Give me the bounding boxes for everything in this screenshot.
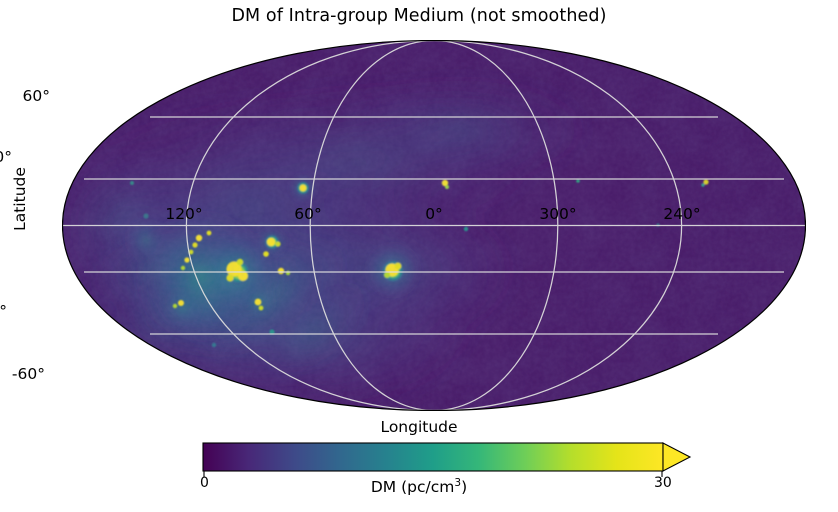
figure-title: DM of Intra-group Medium (not smoothed) [0, 6, 838, 26]
lon-tick-60: 60° [248, 205, 368, 223]
colorbar: 0 30 [203, 443, 663, 471]
colorbar-label-text: DM (pc/cm [371, 478, 455, 496]
figure-canvas: DM of Intra-group Medium (not smoothed) [0, 0, 838, 512]
colorbar-label: DM (pc/cm3) [0, 478, 838, 496]
colorbar-label-close: ) [461, 478, 467, 496]
lon-tick-120: 120° [124, 205, 244, 223]
x-axis-label: Longitude [0, 418, 838, 436]
lon-tick-300: 300° [498, 205, 618, 223]
lat-tick-m30: -30° [0, 302, 7, 320]
lat-tick-60: 60° [0, 87, 50, 105]
mollweide-map: 60° 30° 0° -30° -60° 120° 60° 0° 300° 24… [62, 40, 806, 411]
lat-tick-m60: -60° [0, 365, 45, 383]
lon-tick-240: 240° [622, 205, 742, 223]
lon-tick-0: 0° [374, 205, 494, 223]
map-data-layer [62, 40, 806, 411]
map-svg [62, 40, 806, 411]
colorbar-extend-max-arrow [663, 443, 690, 471]
colorbar-svg [203, 443, 703, 471]
colorbar-gradient [203, 443, 663, 471]
y-axis-label: Latitude [11, 134, 29, 264]
